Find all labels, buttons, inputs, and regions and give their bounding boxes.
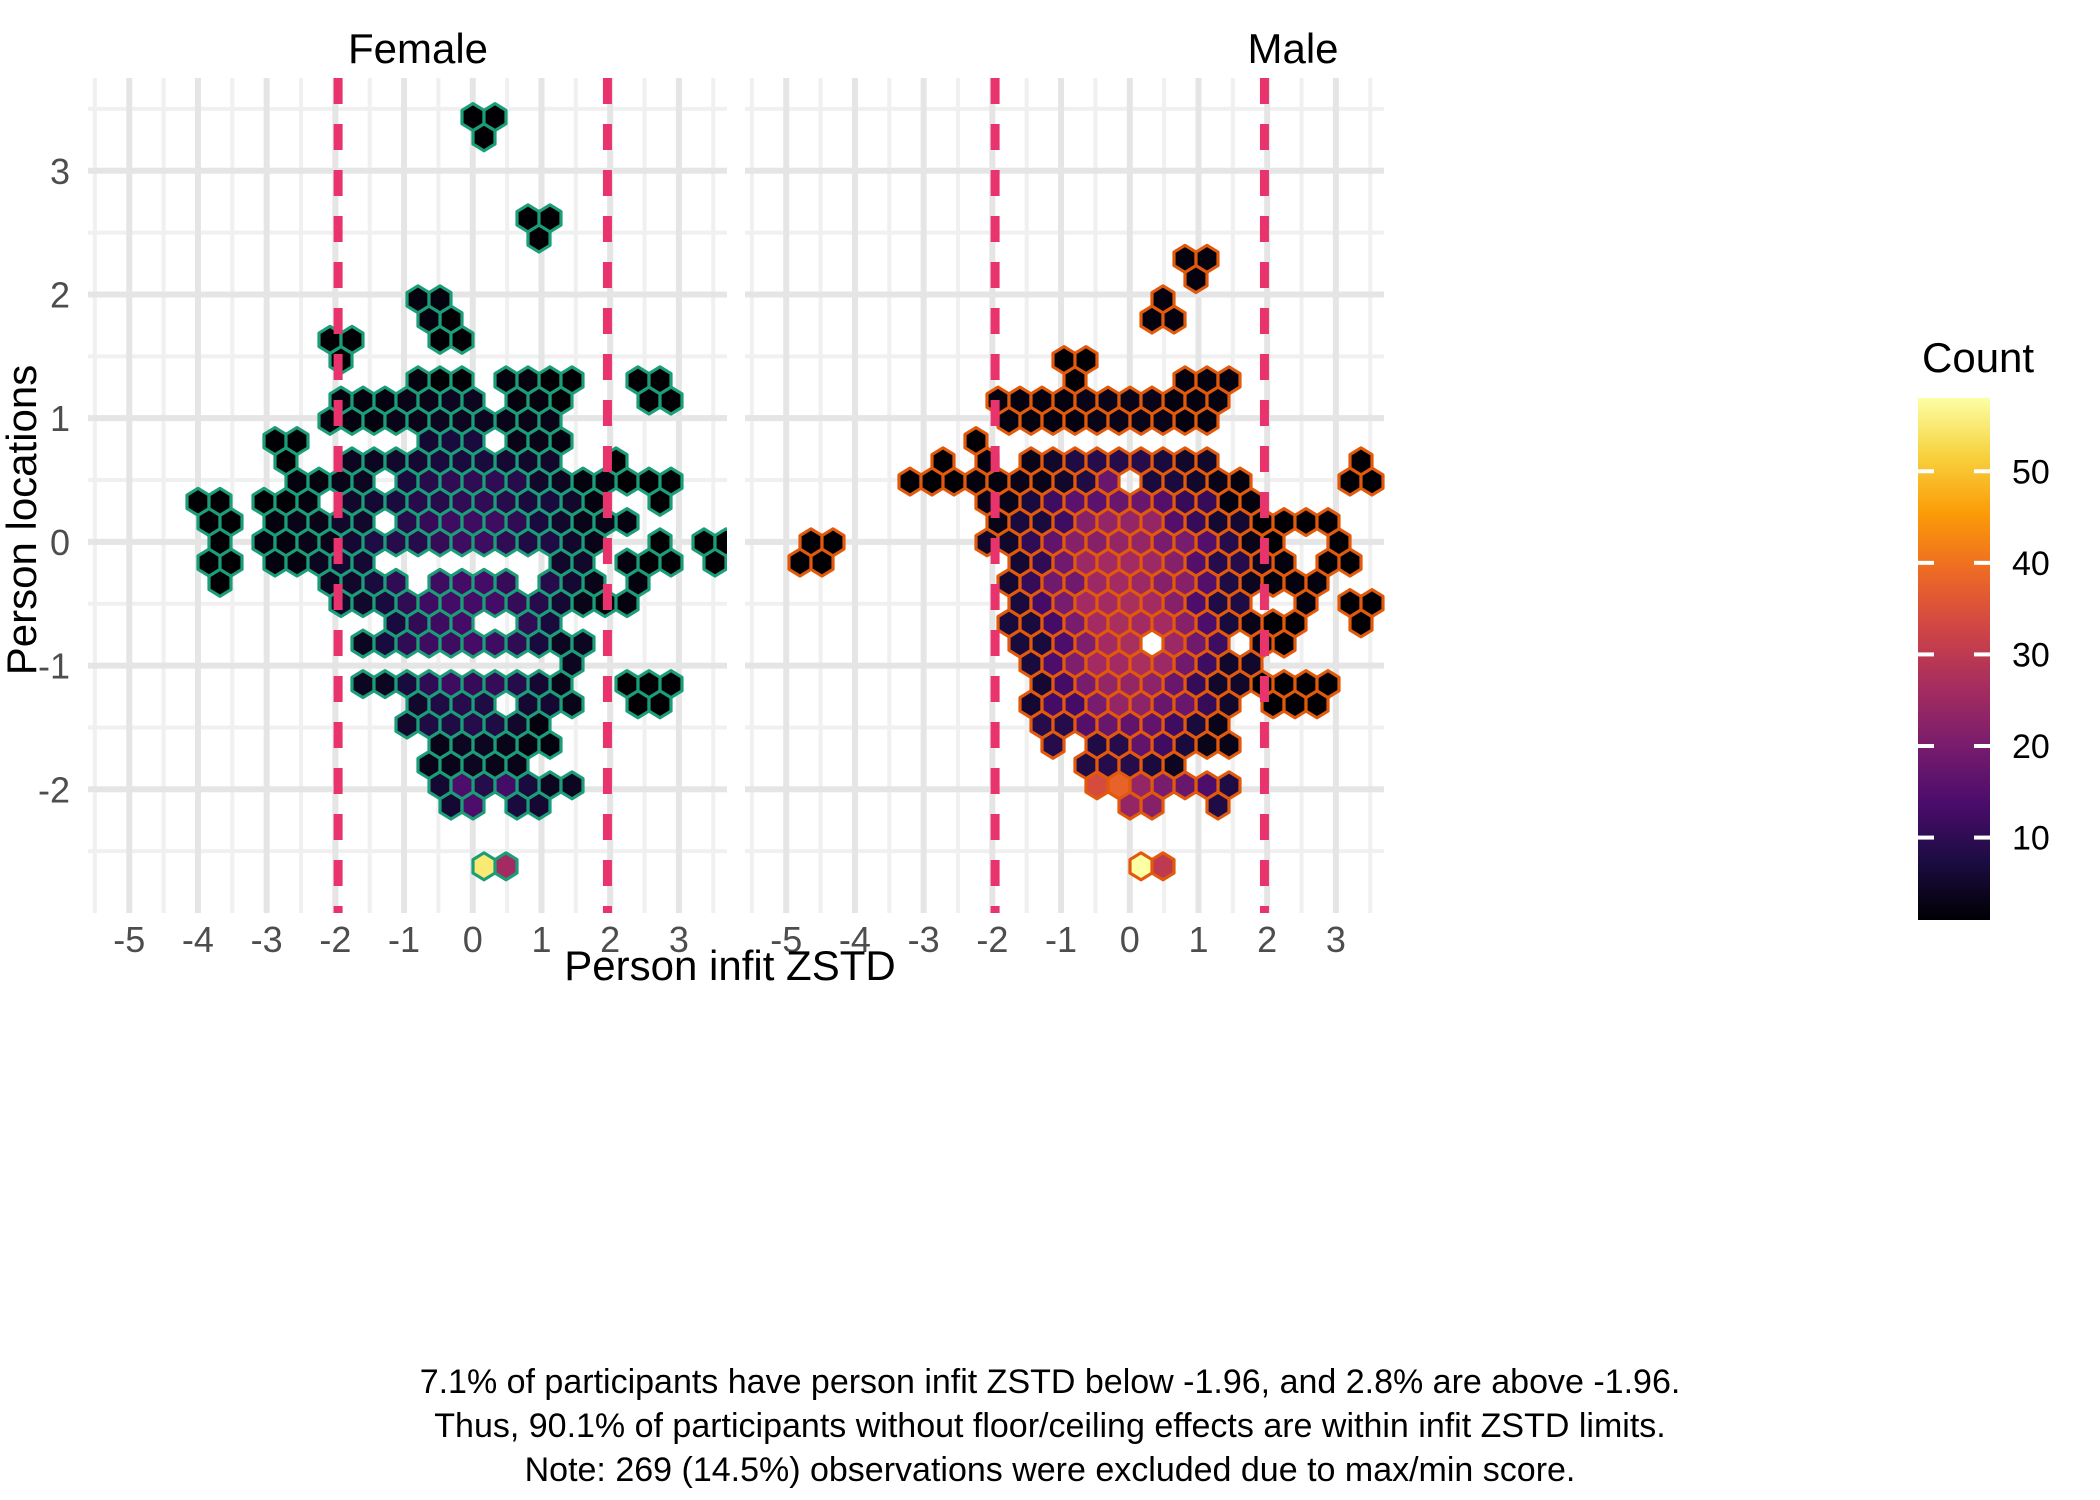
hexbin-cell <box>363 448 385 475</box>
hexbin-cell <box>341 326 363 353</box>
hexbin-cell <box>462 671 484 698</box>
hexbin-cell <box>1119 549 1141 576</box>
hexbin-cell <box>1009 387 1031 414</box>
hexbin-cell <box>440 509 462 536</box>
hexbin-cell <box>1196 245 1218 272</box>
hexbin-cell <box>1119 509 1141 536</box>
hexbin-cell <box>1075 387 1097 414</box>
hexbin-cell <box>539 529 561 556</box>
hexbin-cell <box>1152 448 1174 475</box>
hexbin-cell <box>209 488 231 515</box>
hexbin-cell <box>1130 772 1152 799</box>
hexbin-cell <box>462 104 484 131</box>
hexbin-cell <box>539 448 561 475</box>
hexbin-cell <box>1196 367 1218 394</box>
y-axis-title: Person locations <box>0 365 45 676</box>
hexbin-cell <box>429 286 451 313</box>
hexbin-cell <box>539 569 561 596</box>
hexbin-cell <box>572 630 594 657</box>
hexbin-cell <box>1163 549 1185 576</box>
hexbin-cell <box>506 509 528 536</box>
hexbin-cell <box>1350 448 1372 475</box>
y-tick-label: 0 <box>50 522 70 563</box>
hexbin-cell <box>407 286 429 313</box>
hexbin-cell <box>539 407 561 434</box>
hexbin-cell <box>1053 387 1075 414</box>
facet-gap <box>727 76 745 915</box>
hexbin-cell <box>440 671 462 698</box>
hexbin-cell <box>800 529 822 556</box>
hexbin-cell <box>1218 772 1240 799</box>
x-tick-label: -4 <box>182 919 214 960</box>
hexbin-cell <box>517 407 539 434</box>
hexbin-cell <box>264 428 286 455</box>
y-tick-label: 2 <box>50 274 70 315</box>
hexbin-cell <box>187 488 209 515</box>
hexbin-cell <box>1152 286 1174 313</box>
hexbin-cell <box>1240 650 1262 677</box>
hexbin-cell <box>1273 671 1295 698</box>
hexbin-cell <box>418 509 440 536</box>
hexbin-cell <box>440 468 462 495</box>
x-tick-label: -5 <box>113 919 145 960</box>
x-tick-label: -3 <box>251 919 283 960</box>
hexbin-cell <box>1141 549 1163 576</box>
hexbin-cell <box>1141 509 1163 536</box>
hexbin-cell <box>484 509 506 536</box>
hexbin-cell <box>660 671 682 698</box>
caption-line-1: 7.1% of participants have person infit Z… <box>420 1363 1681 1401</box>
hexbin-cell <box>495 853 517 880</box>
hexbin-cell <box>462 387 484 414</box>
hexbin-cell <box>1295 671 1317 698</box>
x-tick-label: 0 <box>463 919 483 960</box>
hexbin-cell <box>1218 367 1240 394</box>
hexbin-cell <box>1053 590 1075 617</box>
hexbin-cell <box>1174 245 1196 272</box>
hexbin-cell <box>517 367 539 394</box>
hexbin-cell <box>1196 488 1218 515</box>
hexbin-cell <box>649 529 671 556</box>
hexbin-cell <box>1020 448 1042 475</box>
y-tick-label: 3 <box>50 151 70 192</box>
hexbin-cell <box>1317 509 1339 536</box>
hexbin-cell <box>473 569 495 596</box>
hexbin-cell <box>495 772 517 799</box>
hexbin-cell <box>451 772 473 799</box>
legend-colorbar <box>1918 398 1990 920</box>
hexbin-cell <box>1042 448 1064 475</box>
hexbin-cell <box>638 468 660 495</box>
x-tick-label: -3 <box>908 919 940 960</box>
hexbin-cell <box>1097 468 1119 495</box>
hexbin-cell <box>1075 590 1097 617</box>
hexbin-cell <box>1075 509 1097 536</box>
hexbin-cell <box>1053 347 1075 374</box>
hexbin-cell <box>1130 448 1152 475</box>
hexbin-cell <box>638 671 660 698</box>
hexbin-cell <box>341 488 363 515</box>
facet-title-female: Female <box>348 25 488 72</box>
panel-male <box>745 78 1384 913</box>
hexbin-cell <box>660 468 682 495</box>
hexbin-cell <box>1130 853 1152 880</box>
hexbin-cell <box>495 367 517 394</box>
hexbin-cell <box>616 549 638 576</box>
x-tick-label: -2 <box>976 919 1008 960</box>
hexbin-cell <box>539 488 561 515</box>
hexbin-cell <box>1196 529 1218 556</box>
hexbin-cell <box>539 205 561 232</box>
x-tick-label: -1 <box>388 919 420 960</box>
hexbin-cell <box>1218 529 1240 556</box>
legend-tick-label: 50 <box>2012 453 2050 491</box>
x-tick-label: 1 <box>531 919 551 960</box>
hexbin-cell <box>1042 488 1064 515</box>
hexbin-cell <box>484 671 506 698</box>
hexbin-cell <box>561 569 583 596</box>
hexbin-cell <box>1196 772 1218 799</box>
hexbin-cell <box>484 630 506 657</box>
caption-line-3: Note: 269 (14.5%) observations were excl… <box>525 1451 1576 1489</box>
hexbin-cell <box>440 428 462 455</box>
hexbin-cell <box>1020 488 1042 515</box>
x-tick-label: -1 <box>1045 919 1077 960</box>
hexbin-cell <box>693 529 715 556</box>
hexbin-cell <box>440 387 462 414</box>
hexbin-cell <box>1119 387 1141 414</box>
x-tick-label: 1 <box>1188 919 1208 960</box>
hexbin-cell <box>473 853 495 880</box>
hexbin-cell <box>561 367 583 394</box>
legend-tick-label: 20 <box>2012 728 2050 766</box>
legend-title: Count <box>1922 334 2034 381</box>
hexbin-cell <box>1317 671 1339 698</box>
hexbin-cell <box>1075 549 1097 576</box>
hexbin-cell <box>627 367 649 394</box>
hexbin-cell <box>1119 590 1141 617</box>
hexbin-cell <box>649 367 671 394</box>
facet-title-male: Male <box>1247 25 1338 72</box>
hexbin-cell <box>1196 448 1218 475</box>
x-tick-label: 2 <box>1257 919 1277 960</box>
hexbin-cell <box>899 468 921 495</box>
legend-tick-label: 30 <box>2012 636 2050 674</box>
hexbin-cell <box>451 569 473 596</box>
hexbin-cell <box>1075 347 1097 374</box>
panel-female <box>88 76 745 915</box>
hexbin-cell <box>462 428 484 455</box>
hexbin-cell <box>1031 387 1053 414</box>
hexbin-cell <box>561 772 583 799</box>
hexbin-cell <box>616 671 638 698</box>
hexbin-cell <box>264 509 286 536</box>
hexbin-cell <box>341 529 363 556</box>
hexbin-cell <box>286 428 308 455</box>
hexbin-cell <box>1273 509 1295 536</box>
hexbin-cell <box>1108 772 1130 799</box>
hexbin-cell <box>594 468 616 495</box>
hexbin-chart: Female Male -5-4-3-2-10123 -5-4-3-2-1012… <box>0 0 2100 1500</box>
hexbin-cell <box>1339 590 1361 617</box>
hexbin-cell <box>1141 387 1163 414</box>
hexbin-cell <box>1174 367 1196 394</box>
hexbin-cell <box>352 671 374 698</box>
hexbin-cell <box>506 671 528 698</box>
hexbin-cell <box>1361 590 1383 617</box>
hexbin-cell <box>1273 549 1295 576</box>
hexbin-cell <box>396 671 418 698</box>
hexbin-cell <box>418 671 440 698</box>
hexbin-cell <box>286 509 308 536</box>
y-tick-label: 1 <box>50 398 70 439</box>
hexbin-cell <box>363 529 385 556</box>
hexbin-cell <box>352 630 374 657</box>
legend-tick-label: 40 <box>2012 545 2050 583</box>
hexbin-cell <box>396 387 418 414</box>
hexbin-cell <box>418 468 440 495</box>
chart-root: Female Male -5-4-3-2-10123 -5-4-3-2-1012… <box>0 0 2100 1500</box>
hexbin-cell <box>1174 772 1196 799</box>
x-axis-title: Person infit ZSTD <box>564 942 895 989</box>
hexbin-cell <box>506 468 528 495</box>
hexbin-cell <box>308 468 330 495</box>
hexbin-cell <box>822 529 844 556</box>
hexbin-cell <box>429 772 451 799</box>
hexbin-cell <box>1152 853 1174 880</box>
hexbin-cell <box>616 509 638 536</box>
hexbin-cell <box>1097 509 1119 536</box>
hexbin-cell <box>1020 529 1042 556</box>
y-tick-label: -2 <box>38 769 70 810</box>
hexbin-cell <box>363 569 385 596</box>
hexbin-cell <box>1229 468 1251 495</box>
hexbin-cell <box>495 407 517 434</box>
hexbin-cell <box>374 671 396 698</box>
hexbin-cell <box>1295 509 1317 536</box>
x-tick-label: 3 <box>1326 919 1346 960</box>
hexbin-cell <box>561 488 583 515</box>
hexbin-cell <box>286 468 308 495</box>
hexbin-cell <box>1097 387 1119 414</box>
hexbin-cell <box>1064 448 1086 475</box>
x-tick-label: -2 <box>319 919 351 960</box>
hexbin-cell <box>308 509 330 536</box>
hexbin-cell <box>1141 590 1163 617</box>
hexbin-cell <box>308 549 330 576</box>
hexbin-cell <box>385 569 407 596</box>
hexbin-cell <box>484 104 506 131</box>
hexbin-cell <box>363 488 385 515</box>
hexbin-cell <box>352 387 374 414</box>
hexbin-cell <box>517 205 539 232</box>
hexbin-cell <box>462 468 484 495</box>
hexbin-cell <box>1086 772 1108 799</box>
caption-line-2: Thus, 90.1% of participants without floo… <box>434 1407 1665 1445</box>
hexbin-cell <box>462 509 484 536</box>
legend-tick-label: 10 <box>2012 820 2050 858</box>
hexbin-cell <box>528 671 550 698</box>
hexbin-cell <box>1097 549 1119 576</box>
hexbin-cell <box>484 468 506 495</box>
x-tick-label: 0 <box>1120 919 1140 960</box>
hexbin-cell <box>932 448 954 475</box>
hexbin-cell <box>341 448 363 475</box>
hexbin-cell <box>1306 569 1328 596</box>
hexbin-cell <box>517 772 539 799</box>
